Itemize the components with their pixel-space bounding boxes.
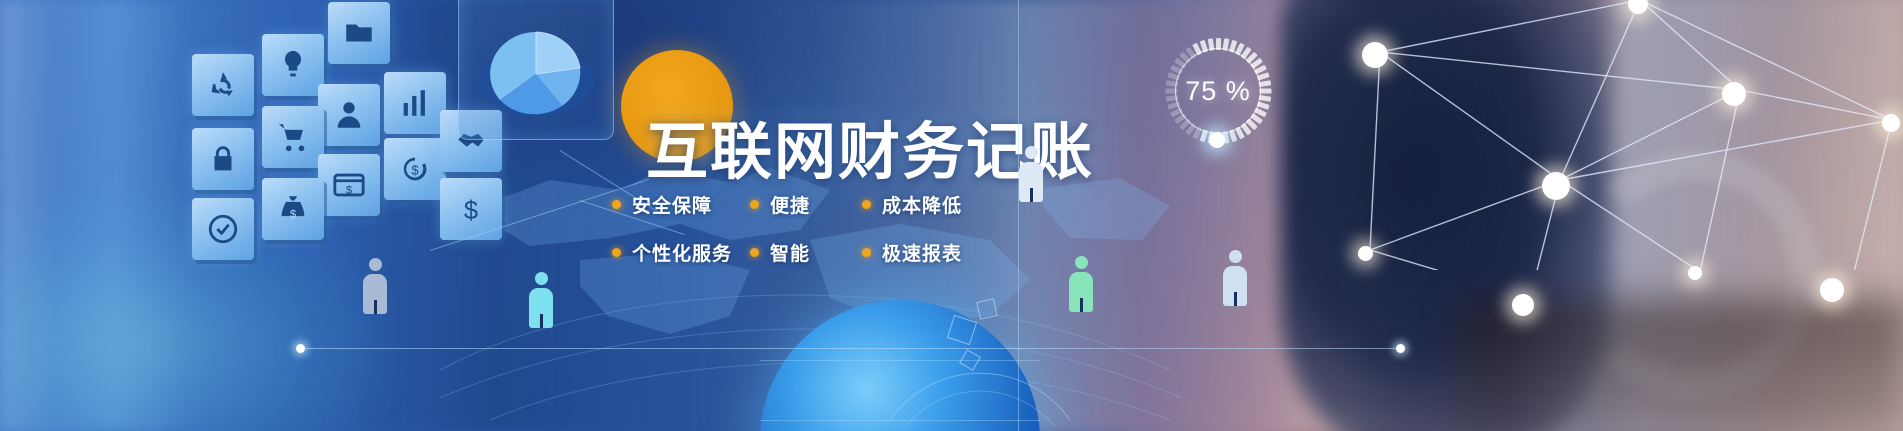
hud-horizontal-line: [300, 348, 1400, 349]
app-icon-cube-stack: $ $ $ $: [172, 0, 472, 222]
feature-label: 便捷: [770, 191, 810, 218]
clock-check-icon: [192, 198, 254, 260]
network-node: [1358, 246, 1373, 261]
person-figure: [1018, 146, 1044, 202]
person-icon: [318, 84, 380, 146]
bullet-dot-icon: [750, 200, 759, 209]
feature-item-convenient[interactable]: 便捷: [750, 191, 862, 218]
lock-icon: [192, 128, 254, 190]
network-node: [1688, 266, 1702, 280]
bullet-dot-icon: [750, 248, 759, 257]
lightbulb-icon: [262, 34, 324, 96]
network-node: [1512, 294, 1534, 316]
progress-gauge: 75 %: [1165, 38, 1271, 144]
svg-text:$: $: [411, 163, 418, 178]
network-node: [1882, 114, 1900, 132]
dollar-icon: $: [440, 178, 502, 240]
svg-text:$: $: [346, 185, 353, 197]
feature-label: 成本降低: [882, 191, 962, 218]
pie-chart: [470, 8, 602, 126]
feature-item-personalized-service[interactable]: 个性化服务: [612, 239, 750, 266]
marketing-banner: $ $ $ $ 互联网财务记账 安全保障: [0, 0, 1903, 431]
feature-row: 安全保障 便捷 成本降低: [612, 180, 1032, 228]
gauge-indicator-dot: [1209, 132, 1225, 148]
network-node: [1722, 82, 1746, 106]
feature-item-security[interactable]: 安全保障: [612, 191, 750, 218]
network-nodes-graphic: [1300, 0, 1903, 270]
feature-row: 个性化服务 智能 极速报表: [612, 228, 1032, 276]
money-bag-icon: $: [262, 178, 324, 240]
person-figure: [1222, 250, 1248, 306]
bullet-dot-icon: [612, 200, 621, 209]
bullet-dot-icon: [862, 200, 871, 209]
feature-label: 智能: [770, 239, 810, 266]
network-node: [1362, 42, 1388, 68]
gauge-value: 75 %: [1165, 38, 1271, 144]
network-node: [1542, 172, 1570, 200]
shopping-cart-icon: [262, 106, 324, 168]
hud-endpoint-dot: [1396, 344, 1405, 353]
svg-text:$: $: [464, 197, 478, 225]
person-figure: [528, 272, 554, 328]
feature-list: 安全保障 便捷 成本降低 个性化服务 智能 极速报表: [612, 180, 1032, 276]
recycle-icon: [192, 54, 254, 116]
network-node: [1820, 278, 1844, 302]
bullet-dot-icon: [612, 248, 621, 257]
folder-icon: [328, 2, 390, 64]
feature-label: 极速报表: [882, 239, 962, 266]
feature-item-fast-reports[interactable]: 极速报表: [862, 239, 962, 266]
bar-chart-icon: [384, 72, 446, 134]
feature-label: 安全保障: [632, 191, 712, 218]
svg-text:$: $: [290, 209, 297, 221]
feature-item-intelligent[interactable]: 智能: [750, 239, 862, 266]
hud-endpoint-dot: [296, 344, 305, 353]
feature-label: 个性化服务: [632, 239, 732, 266]
bullet-dot-icon: [862, 248, 871, 257]
credit-card-dollar-icon: $: [318, 154, 380, 216]
background-table-blur: [1460, 300, 1903, 431]
person-figure: [362, 258, 388, 314]
feature-item-cost-reduction[interactable]: 成本降低: [862, 191, 962, 218]
hud-arc-graphic: [880, 300, 1080, 431]
refresh-dollar-icon: $: [384, 138, 446, 200]
